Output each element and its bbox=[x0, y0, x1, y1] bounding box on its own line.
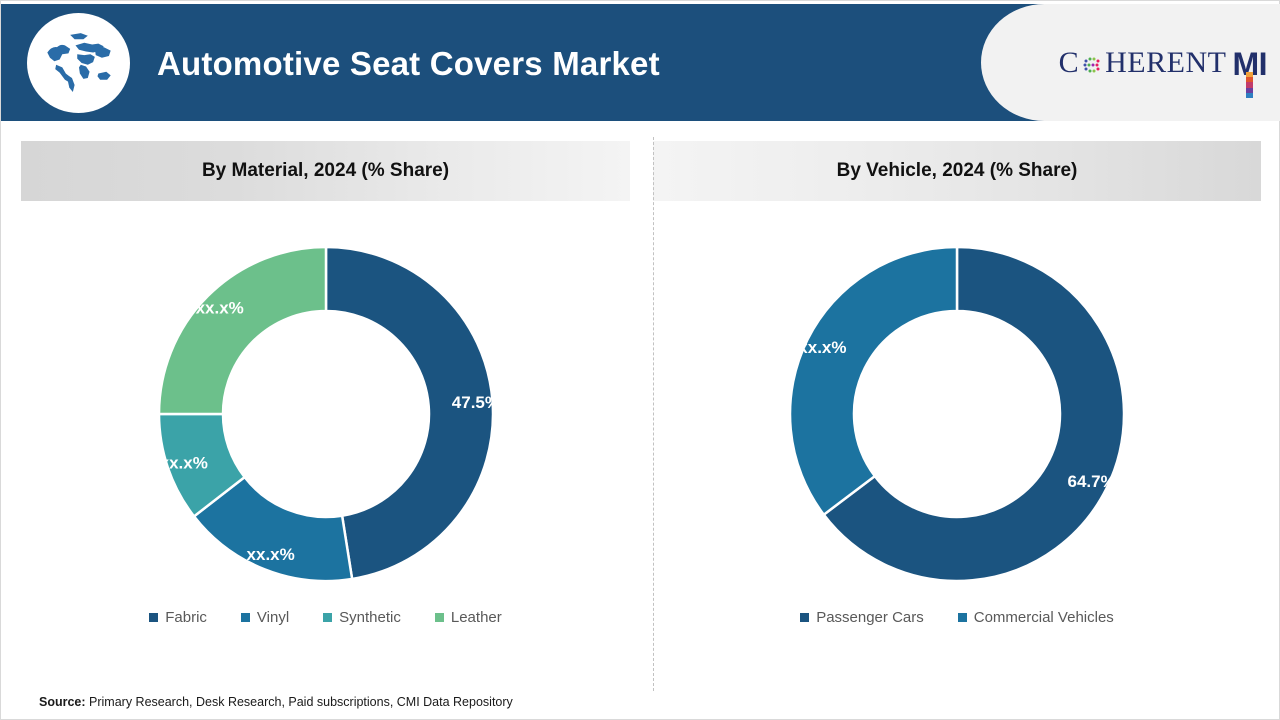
legend-by-material: FabricVinylSyntheticLeather bbox=[21, 609, 630, 626]
donut-slice bbox=[159, 247, 326, 414]
panel-title-by-material: By Material, 2024 (% Share) bbox=[21, 141, 630, 201]
source-note: Source: Primary Research, Desk Research,… bbox=[39, 695, 513, 709]
slice-value-label: 47.5% bbox=[452, 393, 496, 412]
legend-item-label: Fabric bbox=[165, 609, 207, 626]
coherentmi-logo: C bbox=[1059, 40, 1267, 86]
legend-swatch-icon bbox=[435, 613, 444, 622]
legend-material-item[interactable]: Fabric bbox=[149, 609, 207, 626]
infographic-page: Automotive Seat Covers Market C bbox=[0, 0, 1280, 720]
panel-title-by-vehicle: By Vehicle, 2024 (% Share) bbox=[653, 141, 1261, 201]
donut-chart-by-material: 47.5%xx.x%xx.x%xx.x% bbox=[156, 244, 496, 584]
legend-vehicle-item[interactable]: Commercial Vehicles bbox=[958, 609, 1114, 626]
legend-swatch-icon bbox=[149, 613, 158, 622]
slice-value-label: 64.7% bbox=[1068, 472, 1116, 491]
legend-item-label: Synthetic bbox=[339, 609, 401, 626]
legend-by-vehicle: Passenger CarsCommercial Vehicles bbox=[653, 609, 1261, 626]
legend-vehicle-item[interactable]: Passenger Cars bbox=[800, 609, 924, 626]
brand-accent-bars bbox=[1246, 72, 1253, 98]
legend-item-label: Commercial Vehicles bbox=[974, 609, 1114, 626]
panel-divider bbox=[653, 137, 654, 691]
legend-material-item[interactable]: Vinyl bbox=[241, 609, 289, 626]
legend-item-label: Passenger Cars bbox=[816, 609, 924, 626]
donut-slice bbox=[326, 247, 493, 579]
brand-text-herent: HERENT bbox=[1105, 48, 1226, 78]
donut-slice bbox=[790, 247, 957, 515]
slice-value-label: xx.x% bbox=[247, 545, 295, 564]
page-header: Automotive Seat Covers Market C bbox=[1, 4, 1280, 121]
legend-material-item[interactable]: Leather bbox=[435, 609, 502, 626]
source-label: Source: bbox=[39, 695, 86, 709]
legend-material-item[interactable]: Synthetic bbox=[323, 609, 401, 626]
legend-item-label: Leather bbox=[451, 609, 502, 626]
donut-chart-by-vehicle: 64.7%xx.x% bbox=[787, 244, 1127, 584]
page-title: Automotive Seat Covers Market bbox=[157, 45, 660, 83]
legend-swatch-icon bbox=[241, 613, 250, 622]
legend-swatch-icon bbox=[323, 613, 332, 622]
legend-swatch-icon bbox=[958, 613, 967, 622]
source-text: Primary Research, Desk Research, Paid su… bbox=[86, 695, 513, 709]
brand-text-c: C bbox=[1059, 48, 1080, 78]
dotted-globe-icon bbox=[1080, 53, 1104, 77]
slice-value-label: xx.x% bbox=[196, 299, 244, 318]
legend-item-label: Vinyl bbox=[257, 609, 289, 626]
slice-value-label: xx.x% bbox=[160, 454, 208, 473]
world-globe-icon bbox=[27, 13, 130, 113]
slice-value-label: xx.x% bbox=[798, 338, 846, 357]
legend-swatch-icon bbox=[800, 613, 809, 622]
